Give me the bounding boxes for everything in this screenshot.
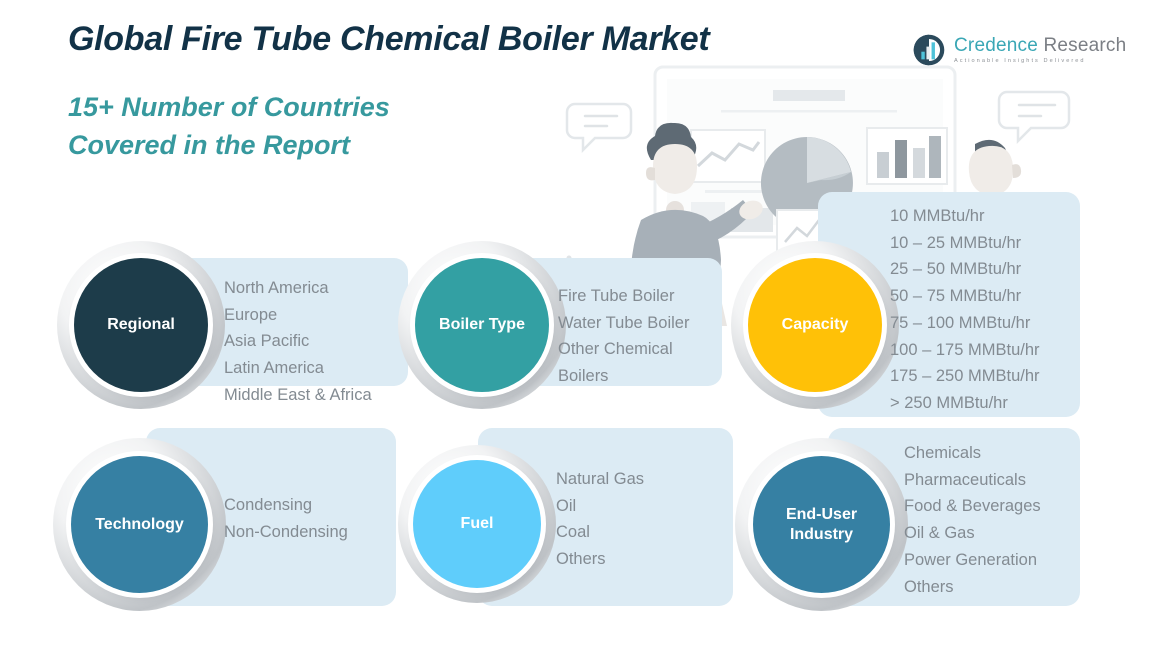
list-regional: North America Europe Asia Pacific Latin … [224,275,372,409]
logo-tagline: Actionable Insights Delivered [954,58,1126,64]
list-item: Europe [224,302,372,329]
label-line-1: End-User [786,506,857,523]
list-item: Latin America [224,355,372,382]
logo-name: Credence Research [954,36,1126,56]
subtitle-line-1: 15+ Number of Countries [68,88,390,126]
list-item: Condensing [224,492,348,519]
list-item: Other Chemical [558,336,689,363]
list-item: 25 – 50 MMBtu/hr [890,256,1040,283]
label-regional: Regional [107,315,175,335]
list-capacity: 10 MMBtu/hr 10 – 25 MMBtu/hr 25 – 50 MMB… [890,203,1040,417]
list-item: Boilers [558,363,689,390]
list-item: Coal [556,519,644,546]
page-subtitle: 15+ Number of Countries Covered in the R… [68,88,390,165]
circle-end-user-industry[interactable]: End-User Industry [753,456,890,593]
label-line-2: Industry [790,526,853,543]
circle-regional[interactable]: Regional [74,258,208,392]
circle-fuel[interactable]: Fuel [413,460,541,588]
list-item: Asia Pacific [224,328,372,355]
list-item: > 250 MMBtu/hr [890,390,1040,417]
list-item: Oil [556,493,644,520]
infographic-page: Global Fire Tube Chemical Boiler Market … [0,0,1158,653]
list-item: Others [556,546,644,573]
list-item: Others [904,574,1041,601]
list-item: Fire Tube Boiler [558,283,689,310]
list-item: Food & Beverages [904,493,1041,520]
list-technology: Condensing Non-Condensing [224,492,348,545]
list-boiler-type: Fire Tube Boiler Water Tube Boiler Other… [558,283,689,390]
subtitle-line-2: Covered in the Report [68,126,390,164]
list-item: 175 – 250 MMBtu/hr [890,363,1040,390]
logo-name-credence: Credence [954,35,1038,56]
list-item: 50 – 75 MMBtu/hr [890,283,1040,310]
label-technology: Technology [95,515,184,535]
list-item: Pharmaceuticals [904,467,1041,494]
logo-text-block: Credence Research Actionable Insights De… [954,36,1126,64]
circle-technology[interactable]: Technology [71,456,208,593]
list-item: Oil & Gas [904,520,1041,547]
circle-boiler-type[interactable]: Boiler Type [415,258,549,392]
list-item: Non-Condensing [224,519,348,546]
logo-name-research: Research [1043,35,1126,56]
label-boiler-type: Boiler Type [439,315,525,335]
list-item: Natural Gas [556,466,644,493]
list-item: North America [224,275,372,302]
list-item: 10 MMBtu/hr [890,203,1040,230]
list-item: Chemicals [904,440,1041,467]
page-title: Global Fire Tube Chemical Boiler Market [68,20,709,59]
list-item: Middle East & Africa [224,382,372,409]
circle-capacity[interactable]: Capacity [748,258,882,392]
list-item: 75 – 100 MMBtu/hr [890,310,1040,337]
label-end-user-industry: End-User Industry [786,505,857,544]
list-end-user-industry: Chemicals Pharmaceuticals Food & Beverag… [904,440,1041,600]
label-capacity: Capacity [782,315,849,335]
chart-circle-logo-icon [912,33,946,67]
list-item: 100 – 175 MMBtu/hr [890,337,1040,364]
list-item: Power Generation [904,547,1041,574]
list-item: 10 – 25 MMBtu/hr [890,230,1040,257]
credence-research-logo: Credence Research Actionable Insights De… [912,29,1102,71]
list-fuel: Natural Gas Oil Coal Others [556,466,644,573]
list-item: Water Tube Boiler [558,310,689,337]
label-fuel: Fuel [461,514,494,534]
